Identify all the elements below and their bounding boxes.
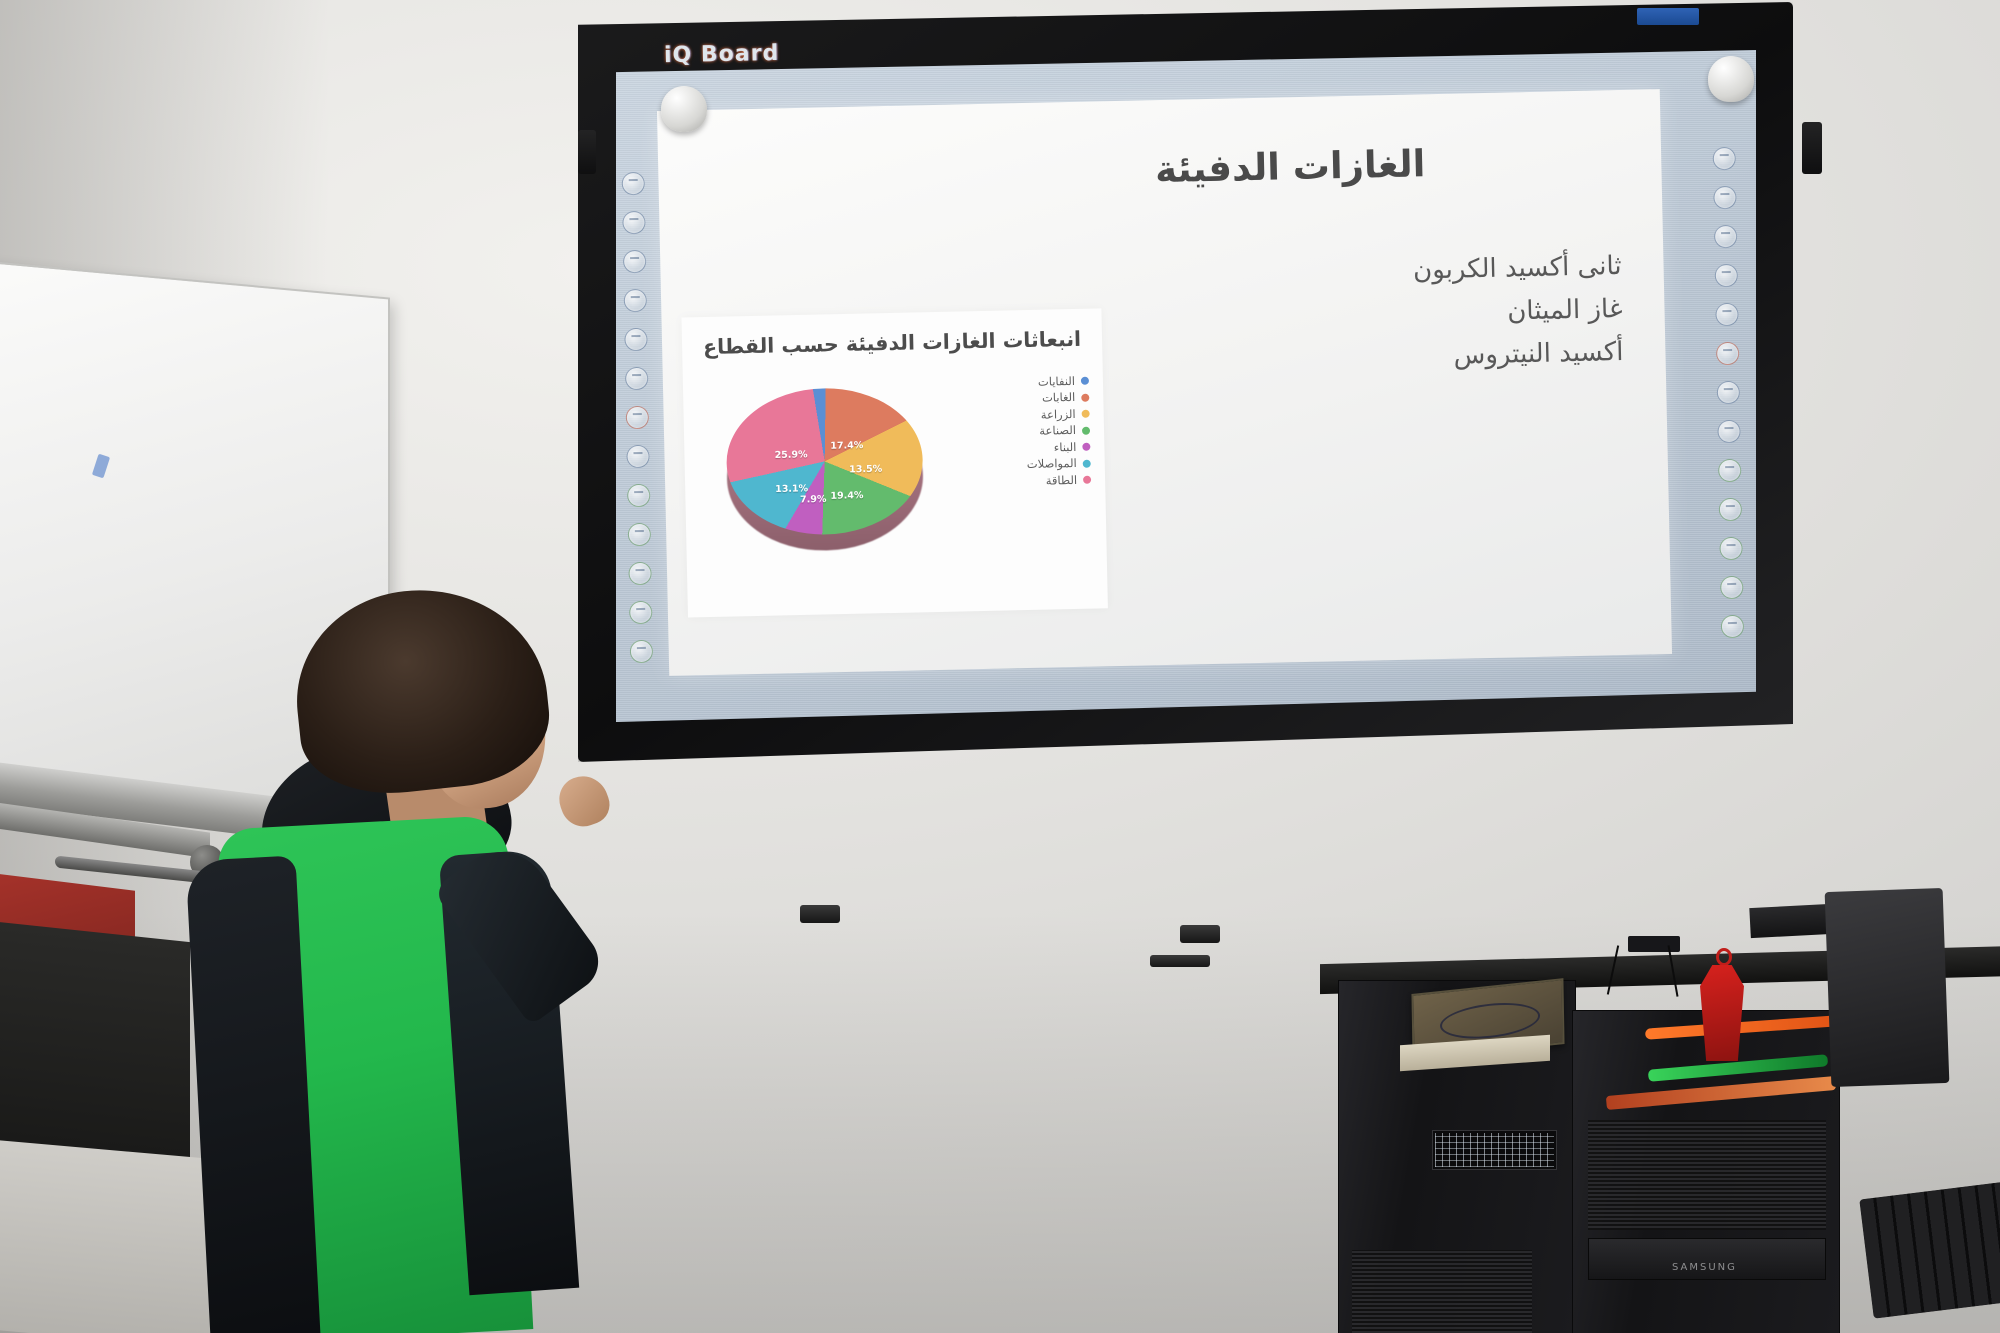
board-mount-clip-right bbox=[1802, 122, 1822, 174]
tower-brand-label: SAMSUNG bbox=[1672, 1262, 1737, 1273]
board-knob-left bbox=[661, 86, 707, 132]
bezel-button-right-pen-icon[interactable] bbox=[1713, 186, 1736, 209]
bezel-button-keyboard-icon[interactable] bbox=[628, 523, 651, 546]
legend-label: النفايات bbox=[1038, 375, 1075, 387]
legend-color-dot-icon bbox=[1082, 426, 1090, 434]
legend-label: الصناعة bbox=[1039, 425, 1076, 437]
bezel-button-right-undo-icon[interactable] bbox=[1715, 264, 1738, 287]
bezel-button-right-eraser-icon[interactable] bbox=[1714, 225, 1737, 248]
chart-title: انبعاثات الغازات الدفيئة حسب القطاع bbox=[682, 326, 1102, 359]
wall-socket bbox=[1628, 936, 1680, 952]
legend-item[interactable]: النفايات bbox=[1025, 373, 1089, 391]
hand bbox=[553, 769, 615, 832]
bezel-button-right-page-icon[interactable] bbox=[1719, 537, 1742, 560]
bezel-button-shape-icon[interactable] bbox=[625, 367, 648, 390]
bezel-button-right-capture-icon[interactable] bbox=[1717, 420, 1740, 443]
slide-title: الغازات الدفيئة bbox=[1155, 142, 1426, 191]
iq-board-logo: iQ Board bbox=[664, 41, 780, 68]
monitor[interactable] bbox=[1825, 888, 1950, 1087]
legend-label: البناء bbox=[1054, 441, 1077, 453]
optical-drive[interactable] bbox=[1588, 1238, 1826, 1280]
bezel-button-spotlight-icon[interactable] bbox=[627, 484, 650, 507]
pie-slice-label: 17.4% bbox=[830, 440, 863, 452]
bezel-button-capture-icon[interactable] bbox=[626, 445, 649, 468]
bezel-button-right-keyboard-icon[interactable] bbox=[1719, 498, 1742, 521]
chart-legend: النفاياتالغاباتالزراعةالصناعةالبناءالموا… bbox=[1025, 373, 1091, 490]
legend-item[interactable]: المواصلات bbox=[1027, 455, 1091, 473]
legend-label: الطاقة bbox=[1046, 474, 1078, 486]
legend-color-dot-icon bbox=[1082, 443, 1090, 451]
board-bottom-mount-2 bbox=[1180, 925, 1220, 943]
legend-color-dot-icon bbox=[1081, 393, 1089, 401]
legend-color-dot-icon bbox=[1083, 476, 1091, 484]
tower-display-panel bbox=[1432, 1130, 1557, 1170]
bezel-button-eraser-icon[interactable] bbox=[623, 250, 646, 273]
bezel-button-right-pointer-icon[interactable] bbox=[1713, 147, 1736, 170]
legend-item[interactable]: البناء bbox=[1026, 439, 1090, 457]
board-top-badge bbox=[1637, 8, 1699, 25]
bezel-button-pen-icon[interactable] bbox=[622, 211, 645, 234]
bezel-button-right-shape-icon[interactable] bbox=[1717, 381, 1740, 404]
legend-item[interactable]: الغابات bbox=[1025, 389, 1089, 407]
slide-bullet-2: غاز الميثان bbox=[1414, 288, 1623, 336]
bezel-button-redo-icon[interactable] bbox=[624, 328, 647, 351]
bezel-button-pointer-icon[interactable] bbox=[622, 172, 645, 195]
board-bottom-mount-3 bbox=[1150, 955, 1210, 967]
board-mount-clip-left bbox=[578, 130, 596, 174]
tower-left-vent bbox=[1352, 1250, 1532, 1333]
legend-color-dot-icon bbox=[1082, 410, 1090, 418]
pie-slice-label: 13.5% bbox=[849, 464, 882, 476]
classroom-scene: iQ Board bbox=[0, 0, 2000, 1333]
pie-slice-label: 19.4% bbox=[830, 490, 863, 502]
pie-slice-label: 13.1% bbox=[775, 483, 808, 495]
bezel-button-record-icon[interactable] bbox=[626, 406, 649, 429]
legend-label: المواصلات bbox=[1027, 458, 1077, 471]
red-lantern-ornament bbox=[1700, 965, 1744, 1061]
pie-chart-card: انبعاثات الغازات الدفيئة حسب القطاع 17.4… bbox=[681, 308, 1107, 617]
lantern-hook-icon bbox=[1716, 948, 1732, 966]
legend-item[interactable]: الزراعة bbox=[1026, 406, 1090, 424]
board-bottom-mount-1 bbox=[800, 905, 840, 923]
legend-item[interactable]: الطاقة bbox=[1027, 472, 1091, 490]
pie-slice-label: 7.9% bbox=[800, 494, 827, 506]
student-figure bbox=[240, 590, 760, 1333]
legend-color-dot-icon bbox=[1083, 459, 1091, 467]
slide-bullet-3: أكسيد النيتروس bbox=[1415, 331, 1624, 379]
legend-label: الغابات bbox=[1042, 392, 1076, 404]
bezel-button-right-spotlight-icon[interactable] bbox=[1718, 459, 1741, 482]
bezel-button-right-redo-icon[interactable] bbox=[1715, 303, 1738, 326]
projected-slide: الغازات الدفيئة ثانى أكسيد الكربون غاز ا… bbox=[657, 89, 1672, 676]
legend-color-dot-icon bbox=[1081, 377, 1089, 385]
legend-label: الزراعة bbox=[1041, 408, 1076, 420]
bezel-button-page-icon[interactable] bbox=[628, 562, 651, 585]
pie-chart: 17.4%13.5%19.4%7.9%13.1%25.9% bbox=[719, 374, 933, 564]
bezel-button-right-power-icon[interactable] bbox=[1721, 615, 1744, 638]
legend-item[interactable]: الصناعة bbox=[1026, 422, 1090, 440]
board-knob-right bbox=[1708, 56, 1754, 102]
tower-right-vent bbox=[1588, 1120, 1826, 1230]
slide-bullet-list: ثانى أكسيد الكربون غاز الميثان أكسيد الن… bbox=[1413, 245, 1624, 379]
bezel-button-right-record-icon[interactable] bbox=[1716, 342, 1739, 365]
bezel-button-undo-icon[interactable] bbox=[624, 289, 647, 312]
bezel-button-right-save-icon[interactable] bbox=[1720, 576, 1743, 599]
slide-bullet-1: ثانى أكسيد الكربون bbox=[1413, 245, 1622, 293]
keyboard[interactable] bbox=[1859, 1181, 2000, 1318]
pie-slice-label: 25.9% bbox=[775, 449, 808, 461]
